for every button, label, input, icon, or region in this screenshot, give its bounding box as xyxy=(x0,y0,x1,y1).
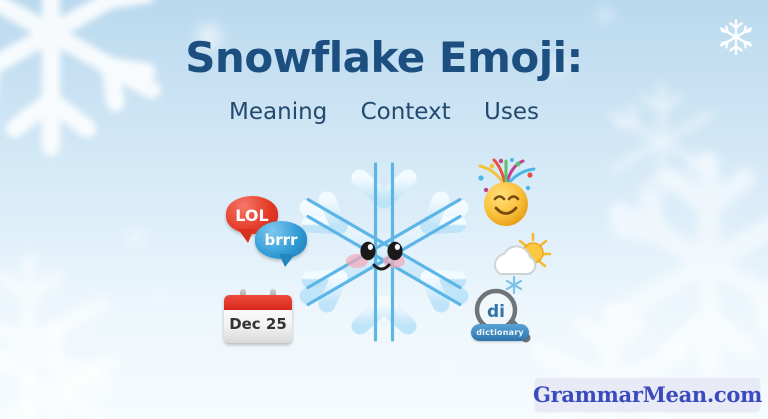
page-subtitle: Meaning Context Uses xyxy=(0,99,768,125)
background-snowflake-right-mid xyxy=(594,148,768,378)
calendar-date-label: Dec 25 xyxy=(224,315,292,333)
dictionary-pill-label: dictionary xyxy=(471,324,529,341)
calendar-icon: Dec 25 xyxy=(224,289,292,343)
background-snowflake-left-edge xyxy=(0,250,124,419)
speech-bubble-lol-text: LOL xyxy=(235,206,268,225)
speech-bubble-brrr-tail xyxy=(279,254,295,267)
bokeh-dot-5 xyxy=(598,8,612,22)
poster-canvas: Snowflake Emoji: Meaning Context Uses xyxy=(0,0,768,419)
background-snowflake-bottom-left xyxy=(0,318,130,419)
speech-bubbles-icon: LOL brrr xyxy=(226,196,312,266)
subtitle-word-meaning: Meaning xyxy=(229,99,327,125)
calendar-body: Dec 25 xyxy=(224,295,292,343)
site-logo[interactable]: GrammarMean.com xyxy=(535,378,760,411)
bokeh-dot-3 xyxy=(128,230,144,246)
kawaii-snowflake-icon xyxy=(296,152,472,352)
bokeh-dot-4 xyxy=(154,290,166,302)
svg-text:di: di xyxy=(487,302,505,322)
partying-face-icon xyxy=(468,156,544,230)
speech-bubble-brrr: brrr xyxy=(255,221,307,259)
dictionary-search-icon: di dictionary xyxy=(468,288,550,344)
speech-bubble-brrr-text: brrr xyxy=(265,231,298,249)
page-title: Snowflake Emoji: xyxy=(0,33,768,82)
subtitle-word-context: Context xyxy=(361,99,451,125)
background-snowflake-right-upper xyxy=(596,76,728,208)
speech-bubble-lol-tail xyxy=(238,229,254,243)
calendar-header-bar xyxy=(224,295,292,310)
site-logo-text: GrammarMean.com xyxy=(533,382,762,407)
bokeh-dot-6 xyxy=(443,356,457,370)
subtitle-word-uses: Uses xyxy=(484,99,539,125)
